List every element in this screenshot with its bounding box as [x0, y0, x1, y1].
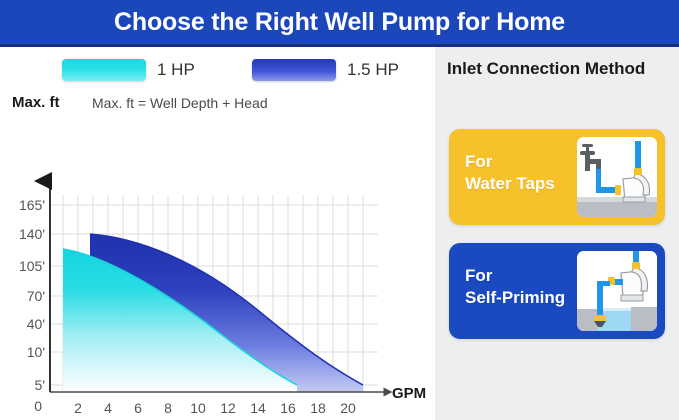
- x-tick-18: 18: [310, 400, 326, 416]
- x-tick-14: 14: [250, 400, 266, 416]
- card-self-priming[interactable]: For Self-Priming: [449, 243, 665, 339]
- x-tick-2: 2: [74, 400, 82, 416]
- card-self-priming-text: For Self-Priming: [465, 265, 575, 309]
- y-tick-labels: 165' 140' 105' 70' 40' 10' 5': [19, 197, 45, 393]
- card-water-taps-text: For Water Taps: [465, 151, 575, 195]
- y-tick-5: 5': [35, 377, 45, 393]
- x-tick-8: 8: [164, 400, 172, 416]
- y-tick-140: 140': [19, 226, 45, 242]
- y-tick-40: 40': [27, 316, 45, 332]
- x-tick-16: 16: [280, 400, 296, 416]
- x-tick-labels: 2 4 6 8 10 12 14 16 18 20: [74, 400, 356, 416]
- y-tick-165: 165': [19, 197, 45, 213]
- origin-tick-label: 0: [34, 398, 42, 414]
- chart-plot-area: 165' 140' 105' 70' 40' 10' 5' 0 2 4 6 8 …: [0, 47, 435, 420]
- inlet-connection-panel: Inlet Connection Method For Water Taps: [435, 47, 679, 420]
- x-tick-10: 10: [190, 400, 206, 416]
- x-tick-6: 6: [134, 400, 142, 416]
- x-axis-title: GPM: [392, 385, 426, 402]
- well-foot-valve-pump-illustration: [577, 251, 657, 331]
- card-water-taps[interactable]: For Water Taps: [449, 129, 665, 225]
- x-tick-20: 20: [340, 400, 356, 416]
- y-tick-10: 10': [27, 344, 45, 360]
- page-title: Choose the Right Well Pump for Home: [114, 8, 565, 37]
- faucet-pump-illustration: [577, 137, 657, 217]
- y-tick-70: 70': [27, 288, 45, 304]
- infographic-root: Choose the Right Well Pump for Home 1 HP…: [0, 0, 679, 420]
- y-tick-105: 105': [19, 258, 45, 274]
- pump-performance-chart: 1 HP 1.5 HP Max. ft Max. ft = Well Depth…: [0, 47, 435, 420]
- inlet-panel-title: Inlet Connection Method: [447, 59, 671, 79]
- page-title-banner: Choose the Right Well Pump for Home: [0, 0, 679, 44]
- card-self-priming-line2: Self-Priming: [465, 287, 575, 309]
- card-water-taps-line2: Water Taps: [465, 173, 575, 195]
- card-self-priming-line1: For: [465, 266, 492, 285]
- x-tick-4: 4: [104, 400, 112, 416]
- x-tick-12: 12: [220, 400, 236, 416]
- card-water-taps-line1: For: [465, 152, 492, 171]
